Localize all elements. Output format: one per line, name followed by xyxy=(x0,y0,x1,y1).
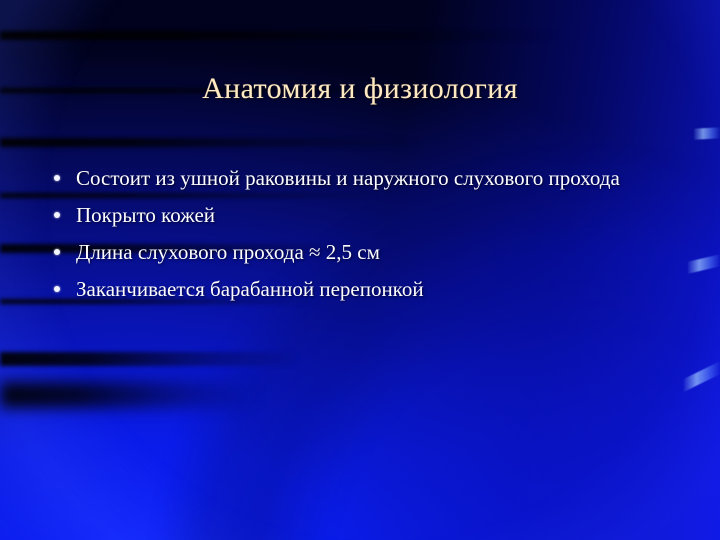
slide-title: Анатомия и физиология xyxy=(0,72,720,105)
round-bullet-icon xyxy=(54,275,76,292)
round-bullet-icon xyxy=(54,164,76,181)
list-item-label: Заканчивается барабанной перепонкой xyxy=(76,275,674,303)
list-item[interactable]: Состоит из ушной раковины и наружного сл… xyxy=(54,164,674,192)
list-item[interactable]: Заканчивается барабанной перепонкой xyxy=(54,275,674,303)
list-item-label: Длина слухового прохода ≈ 2,5 см xyxy=(76,238,674,266)
list-item-label: Состоит из ушной раковины и наружного сл… xyxy=(76,164,674,192)
list-item[interactable]: Длина слухового прохода ≈ 2,5 см xyxy=(54,238,674,266)
slide-content: Анатомия и физиология Состоит из ушной р… xyxy=(0,0,720,540)
presentation-slide: Анатомия и физиология Состоит из ушной р… xyxy=(0,0,720,540)
list-item[interactable]: Покрыто кожей xyxy=(54,201,674,229)
bullet-list: Состоит из ушной раковины и наружного сл… xyxy=(54,164,674,313)
round-bullet-icon xyxy=(54,201,76,218)
list-item-label: Покрыто кожей xyxy=(76,201,674,229)
round-bullet-icon xyxy=(54,238,76,255)
